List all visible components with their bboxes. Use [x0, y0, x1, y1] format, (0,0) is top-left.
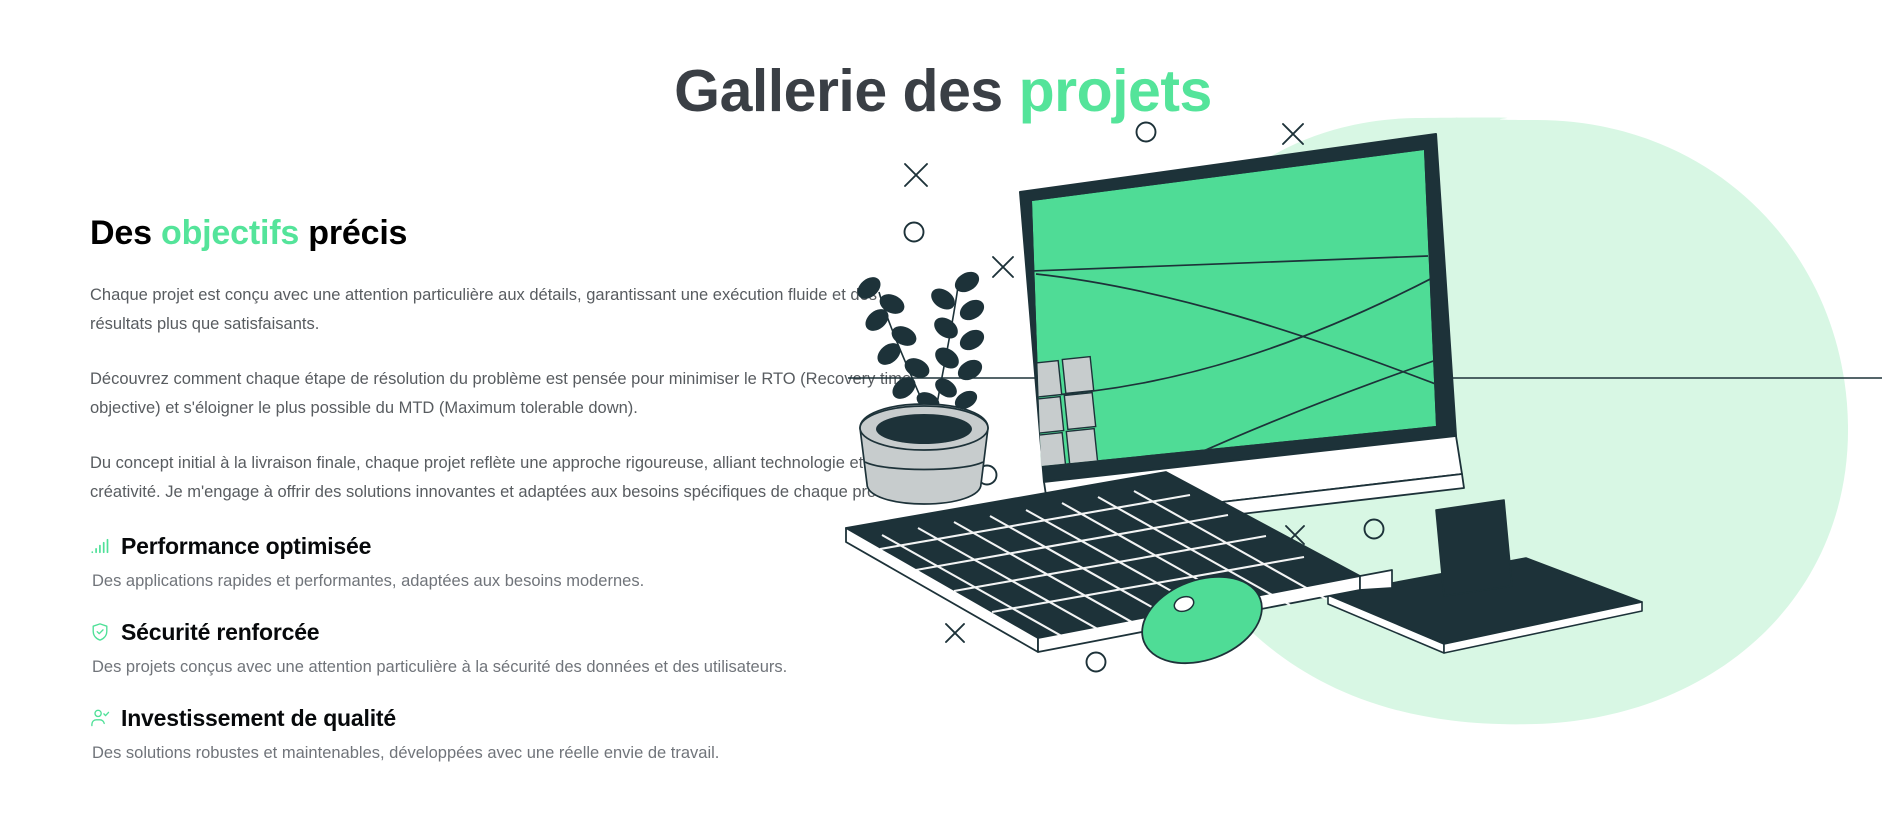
feature-title: Sécurité renforcée [121, 619, 319, 645]
feature-item-performance: Performance optimisée Des applications r… [90, 533, 940, 593]
shield-check-icon [90, 622, 110, 642]
signal-bars-icon [90, 536, 110, 556]
intro-paragraph-1: Chaque projet est conçu avec une attenti… [90, 281, 935, 339]
monitor-neck [1436, 500, 1512, 596]
feature-description: Des applications rapides et performantes… [90, 569, 940, 593]
feature-header: Sécurité renforcée [90, 619, 940, 645]
feature-description: Des solutions robustes et maintenables, … [90, 741, 940, 765]
content-column: Des objectifs précis Chaque projet est c… [90, 213, 940, 765]
plant-pot [860, 404, 988, 504]
intro-paragraph-3: Du concept initial à la livraison finale… [90, 449, 935, 507]
feature-item-quality: Investissement de qualité Des solutions … [90, 705, 940, 765]
feature-item-security: Sécurité renforcée Des projets conçus av… [90, 619, 940, 679]
projects-gallery-page: Gallerie des projets Des objectifs préci… [0, 0, 1886, 822]
intro-paragraph-2: Découvrez comment chaque étape de résolu… [90, 365, 935, 423]
feature-header: Performance optimisée [90, 533, 940, 559]
feature-title: Investissement de qualité [121, 705, 396, 731]
desktop-computer-workspace-illustration [836, 96, 1886, 822]
user-check-icon [90, 708, 110, 728]
feature-title: Performance optimisée [121, 533, 371, 559]
potted-plant [853, 268, 988, 504]
section-heading-post: précis [308, 214, 407, 252]
feature-description: Des projets conçus avec une attention pa… [90, 655, 940, 679]
section-heading-pre: Des [90, 214, 152, 252]
section-heading: Des objectifs précis [90, 213, 940, 253]
section-heading-accent: objectifs [161, 214, 299, 252]
feature-header: Investissement de qualité [90, 705, 940, 731]
